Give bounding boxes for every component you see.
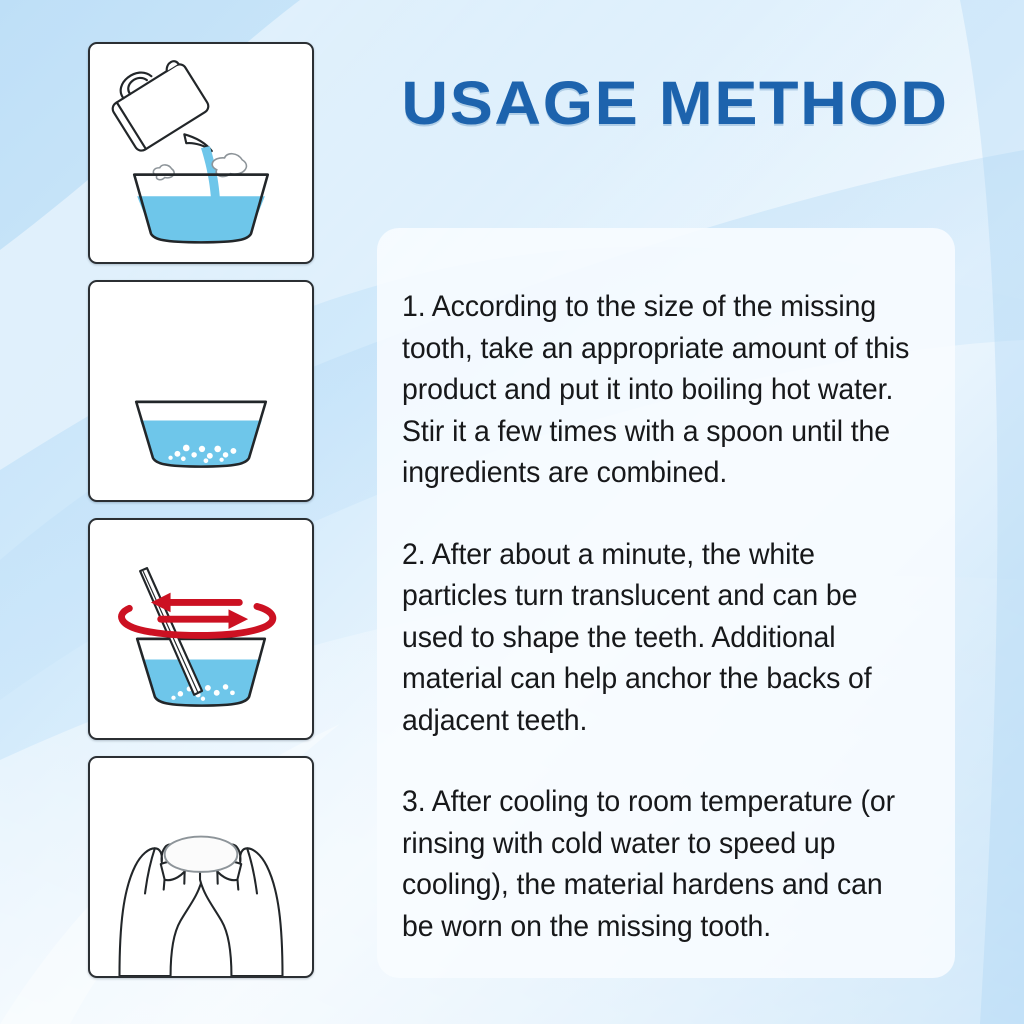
page-title: USAGE METHOD bbox=[362, 72, 987, 134]
bowl-water bbox=[140, 420, 262, 465]
kettle-pouring-into-bowl-icon bbox=[90, 44, 312, 262]
panel-pour-water bbox=[88, 42, 314, 264]
panel-stir bbox=[88, 518, 314, 740]
instruction-step-1: 1. According to the size of the missing … bbox=[402, 286, 911, 494]
spoon-stirring-bowl-icon bbox=[90, 520, 312, 738]
panel-shape-hands bbox=[88, 756, 314, 978]
usage-method-infographic: USAGE METHOD bbox=[0, 0, 1024, 1024]
stir-direction-arrows bbox=[122, 602, 273, 635]
instruction-step-3: 3. After cooling to room temperature (or… bbox=[402, 781, 911, 947]
instructions-card: 1. According to the size of the missing … bbox=[377, 228, 955, 978]
hands-shaping-material-icon bbox=[90, 758, 312, 976]
bowl-with-white-particles-icon bbox=[90, 282, 312, 500]
instruction-step-2: 2. After about a minute, the white parti… bbox=[402, 534, 911, 742]
illustration-panel-column bbox=[88, 42, 314, 978]
dental-material bbox=[165, 837, 238, 872]
panel-bowl-particles bbox=[88, 280, 314, 502]
bowl-water bbox=[137, 196, 265, 241]
